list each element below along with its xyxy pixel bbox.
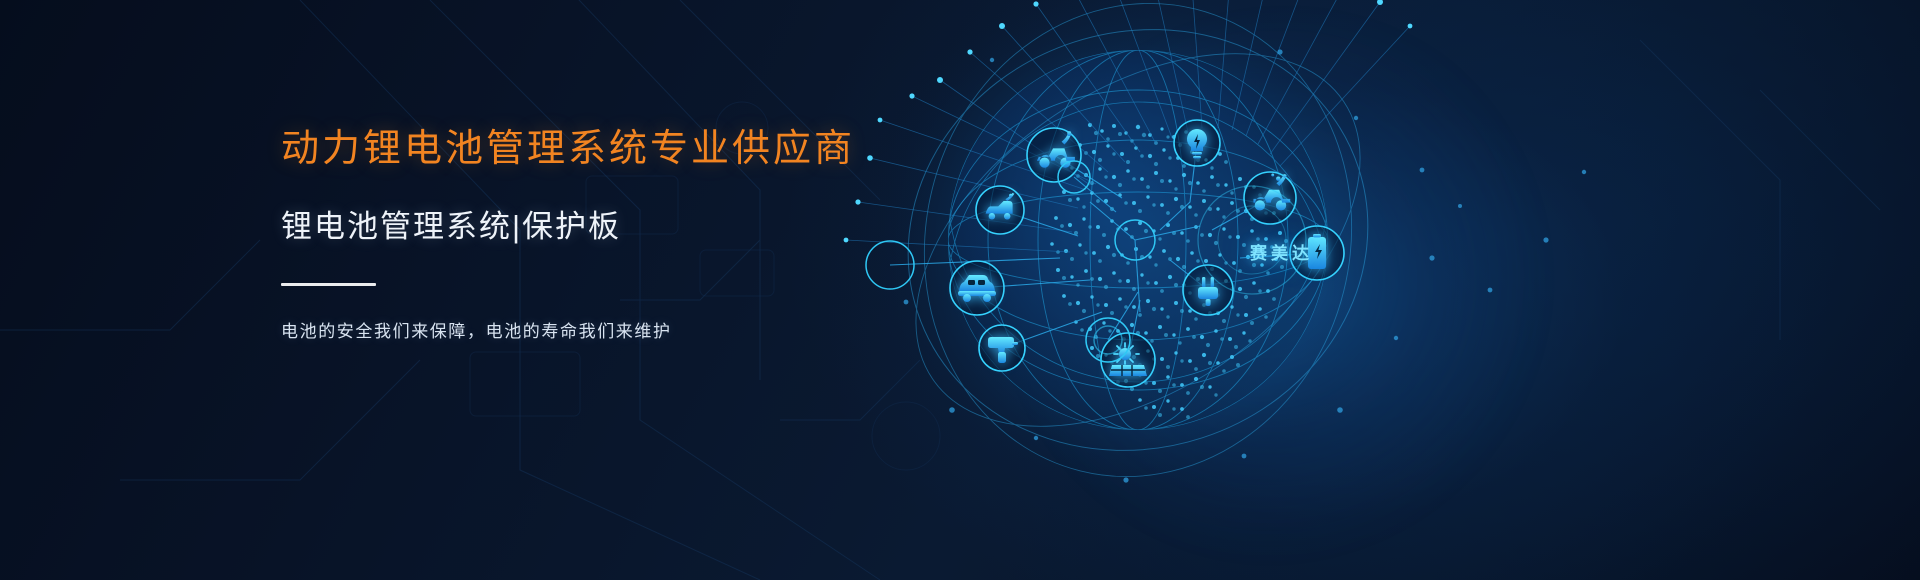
node-plug: [1183, 265, 1233, 315]
node-power-drill: [979, 325, 1025, 371]
node-solar-panel: [1101, 333, 1155, 387]
node-ebike: [1244, 172, 1296, 224]
hero-subtitle: 锂电池管理系统|保护板: [281, 208, 981, 245]
divider-rule: [281, 283, 376, 286]
node-sedan-left: [976, 186, 1024, 234]
node-battery-pack: [1290, 226, 1344, 280]
node-scooter-top: [1027, 128, 1081, 182]
hero-copy: 动力锂电池管理系统专业供应商 锂电池管理系统|保护板 电池的安全我们来保障，电池…: [281, 128, 981, 342]
hero-tagline: 电池的安全我们来保障，电池的寿命我们来维护: [281, 317, 981, 342]
hero-banner: 动力锂电池管理系统专业供应商 锂电池管理系统|保护板 电池的安全我们来保障，电池…: [0, 0, 1920, 580]
node-lightbulb: [1174, 120, 1220, 166]
page-title: 动力锂电池管理系统专业供应商: [281, 128, 981, 172]
